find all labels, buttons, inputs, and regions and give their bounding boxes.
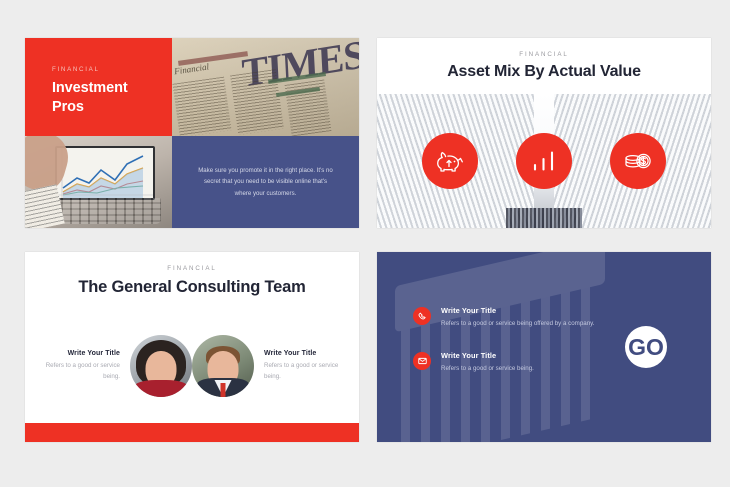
- slide-asset-mix[interactable]: FINANCIAL Asset Mix By Actual Value: [377, 38, 711, 228]
- phone-icon[interactable]: [413, 307, 431, 325]
- avatar-tie: [221, 383, 226, 397]
- slide1-body-text: Make sure you promote it in the right pl…: [196, 165, 336, 199]
- slide4-item-list: Write Your Title Refers to a good or ser…: [413, 306, 598, 396]
- laptop-screen: [55, 146, 155, 200]
- team-member-2-avatar[interactable]: [192, 335, 254, 397]
- envelope-icon[interactable]: [413, 352, 431, 370]
- list-item[interactable]: Write Your Title Refers to a good or ser…: [413, 351, 598, 374]
- item-1-desc: Refers to a good or service being offere…: [441, 319, 595, 329]
- coins-dollar-icon[interactable]: [610, 133, 666, 189]
- item-2-desc: Refers to a good or service being.: [441, 364, 534, 374]
- item-1-title: Write Your Title: [441, 306, 595, 315]
- slide-team[interactable]: FINANCIAL The General Consulting Team Wr…: [25, 252, 359, 442]
- slide1-newspaper-photo: TIMES Financial: [172, 38, 359, 136]
- go-logo[interactable]: GO: [623, 324, 669, 370]
- item-2-title: Write Your Title: [441, 351, 534, 360]
- slide2-icon-row: [377, 94, 711, 228]
- slide1-red-panel: FINANCIAL InvestmentPros: [25, 38, 172, 136]
- slide3-team-row: Write Your Title Refers to a good or ser…: [25, 310, 359, 422]
- bar-chart-icon[interactable]: [516, 133, 572, 189]
- team-member-1-avatar[interactable]: [130, 335, 192, 397]
- slide1-blue-panel: Make sure you promote it in the right pl…: [172, 136, 359, 228]
- slide-title[interactable]: FINANCIAL InvestmentPros TIMES Financial: [25, 38, 359, 228]
- list-item[interactable]: Write Your Title Refers to a good or ser…: [413, 306, 598, 329]
- slide1-laptop-photo: [25, 136, 172, 228]
- team-member-1-text: Write Your Title Refers to a good or ser…: [42, 350, 120, 381]
- slide2-title: Asset Mix By Actual Value: [447, 63, 641, 81]
- slide1-text-block: FINANCIAL InvestmentPros: [52, 66, 128, 116]
- slide-deck-preview: FINANCIAL InvestmentPros TIMES Financial: [0, 0, 730, 487]
- slide3-footer-bar: [25, 423, 359, 442]
- slide2-eyebrow: FINANCIAL: [519, 51, 568, 58]
- team-member-2-desc: Refers to a good or service being.: [264, 361, 342, 381]
- team-member-1-desc: Refers to a good or service being.: [42, 361, 120, 381]
- team-member-2-title: Write Your Title: [264, 350, 342, 357]
- slide3-eyebrow: FINANCIAL: [167, 265, 216, 272]
- slide1-title: InvestmentPros: [52, 79, 128, 116]
- piggy-bank-icon[interactable]: [422, 133, 478, 189]
- team-member-1-title: Write Your Title: [42, 350, 120, 357]
- avatar-body: [134, 380, 188, 397]
- go-logo-text: GO: [628, 334, 664, 360]
- stock-chart-graphic: [57, 148, 153, 198]
- slide3-header: FINANCIAL The General Consulting Team: [25, 252, 359, 310]
- slide2-header: FINANCIAL Asset Mix By Actual Value: [377, 38, 711, 94]
- team-member-2-text: Write Your Title Refers to a good or ser…: [264, 350, 342, 381]
- slide1-eyebrow: FINANCIAL: [52, 66, 128, 73]
- slide-contact[interactable]: Write Your Title Refers to a good or ser…: [377, 252, 711, 442]
- slide3-title: The General Consulting Team: [78, 278, 305, 297]
